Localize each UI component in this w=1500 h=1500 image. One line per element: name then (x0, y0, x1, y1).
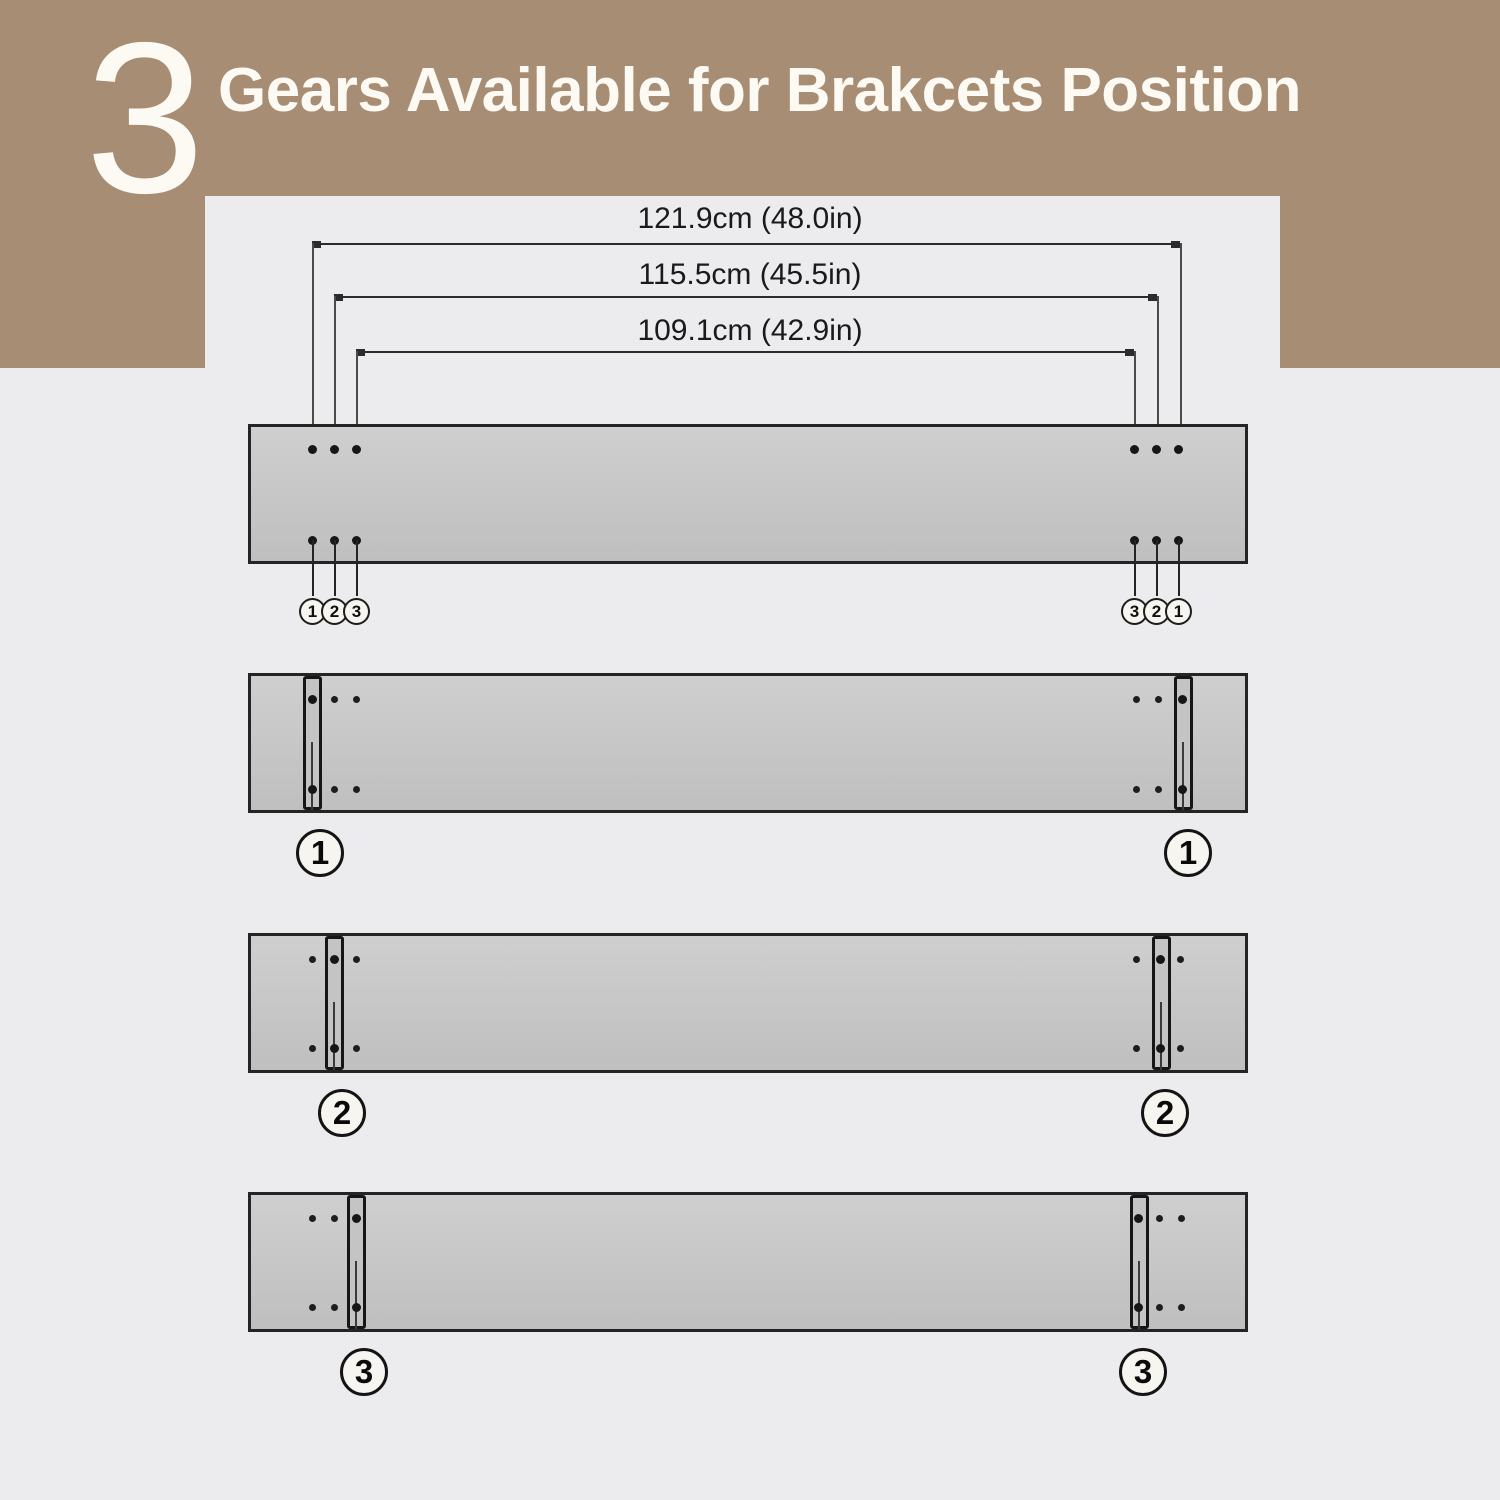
hole-top-right-3 (1130, 445, 1139, 454)
callout-large-left-gear-2[interactable]: 2 (318, 1089, 366, 1137)
hole-b4-top-left-2 (331, 1215, 338, 1222)
board-surface (251, 427, 1245, 561)
bracket-seam-right-2 (1160, 1002, 1162, 1070)
hole-b4-bottom-left-3 (352, 1303, 361, 1312)
extension-line-left-1 (312, 243, 314, 446)
step-number: 3 (78, 18, 208, 228)
dimension-label-1: 121.9cm (48.0in) (420, 202, 1080, 236)
hole-b3-top-left-1 (309, 956, 316, 963)
hole-b4-bottom-right-1 (1178, 1304, 1185, 1311)
leader-line-right-3 (1134, 540, 1136, 596)
hole-b3-bottom-left-1 (309, 1045, 316, 1052)
hole-b2-bottom-right-1 (1178, 785, 1187, 794)
board-surface (251, 676, 1245, 810)
board-surface (251, 936, 1245, 1070)
hole-b2-bottom-right-3 (1133, 786, 1140, 793)
leader-line-right-1 (1178, 540, 1180, 596)
dimension-line-3 (356, 351, 1134, 353)
hole-b2-bottom-left-2 (331, 786, 338, 793)
dimension-label-2: 115.5cm (45.5in) (420, 258, 1080, 292)
hole-b2-top-right-2 (1155, 696, 1162, 703)
callout-small-left-3[interactable]: 3 (343, 598, 370, 625)
callout-small-right-1[interactable]: 1 (1165, 598, 1192, 625)
hole-b3-bottom-right-2 (1156, 1044, 1165, 1053)
infographic-page: 3 Gears Available for Brakcets Position … (0, 0, 1500, 1500)
hole-b3-bottom-left-2 (330, 1044, 339, 1053)
callout-large-left-gear-3[interactable]: 3 (340, 1348, 388, 1396)
hole-b2-top-right-1 (1178, 695, 1187, 704)
hole-b2-bottom-right-2 (1155, 786, 1162, 793)
hole-b2-bottom-left-3 (353, 786, 360, 793)
hole-b3-top-left-3 (353, 956, 360, 963)
hole-b3-top-right-3 (1133, 956, 1140, 963)
hole-b4-bottom-left-1 (309, 1304, 316, 1311)
callout-large-right-gear-3[interactable]: 3 (1119, 1348, 1167, 1396)
leader-line-left-3 (356, 540, 358, 596)
leader-line-left-2 (334, 540, 336, 596)
callout-large-right-gear-1[interactable]: 1 (1164, 829, 1212, 877)
dimension-line-1 (312, 243, 1180, 245)
bracket-seam-left-1 (311, 742, 313, 810)
callout-large-left-gear-1[interactable]: 1 (296, 829, 344, 877)
overview-board (248, 424, 1248, 564)
hole-b3-bottom-right-1 (1177, 1045, 1184, 1052)
hole-top-right-1 (1174, 445, 1183, 454)
hole-b2-bottom-left-1 (308, 785, 317, 794)
hole-b3-bottom-left-3 (353, 1045, 360, 1052)
leader-line-right-2 (1156, 540, 1158, 596)
hole-b4-top-left-3 (352, 1214, 361, 1223)
dimension-line-2 (334, 296, 1157, 298)
hole-top-left-2 (330, 445, 339, 454)
hole-top-left-3 (352, 445, 361, 454)
board-surface (251, 1195, 1245, 1329)
hole-b4-top-right-2 (1156, 1215, 1163, 1222)
hole-top-right-2 (1152, 445, 1161, 454)
hole-b2-top-left-2 (331, 696, 338, 703)
hole-b3-top-right-1 (1177, 956, 1184, 963)
callout-large-right-gear-2[interactable]: 2 (1141, 1089, 1189, 1137)
bracket-seam-right-1 (1182, 742, 1184, 810)
leader-line-left-1 (312, 540, 314, 596)
bracket-seam-left-2 (333, 1002, 335, 1070)
bracket-seam-right-3 (1138, 1261, 1140, 1329)
hole-b2-top-right-3 (1133, 696, 1140, 703)
gear-3-board (248, 1192, 1248, 1332)
hole-b4-bottom-right-2 (1156, 1304, 1163, 1311)
hole-b2-top-left-1 (308, 695, 317, 704)
hole-b3-bottom-right-3 (1133, 1045, 1140, 1052)
extension-line-right-1 (1180, 243, 1182, 446)
hole-b4-top-left-1 (309, 1215, 316, 1222)
hole-top-left-1 (308, 445, 317, 454)
page-title: Gears Available for Brakcets Position (218, 54, 1301, 128)
hole-b4-top-right-3 (1134, 1214, 1143, 1223)
dimension-label-3: 109.1cm (42.9in) (420, 314, 1080, 348)
hole-b4-bottom-left-2 (331, 1304, 338, 1311)
hole-b2-top-left-3 (353, 696, 360, 703)
hole-b3-top-right-2 (1156, 955, 1165, 964)
hole-b3-top-left-2 (330, 955, 339, 964)
gear-1-board (248, 673, 1248, 813)
hole-b4-top-right-1 (1178, 1215, 1185, 1222)
hole-b4-bottom-right-3 (1134, 1303, 1143, 1312)
bracket-seam-left-3 (355, 1261, 357, 1329)
gear-2-board (248, 933, 1248, 1073)
